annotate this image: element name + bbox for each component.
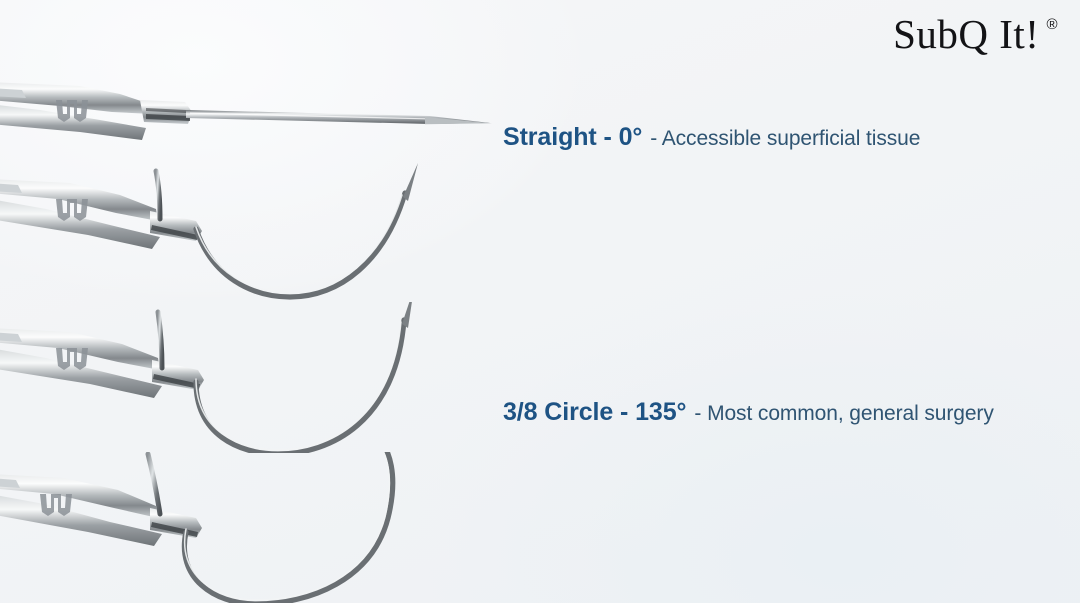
- forceps-engraved-logo-icon: [40, 494, 72, 516]
- caption-straight: Straight - 0° - Accessible superficial t…: [503, 123, 1078, 152]
- forceps-jaw-serrations: [146, 114, 190, 121]
- needle-curvature-infographic: SubQ It! ®: [0, 0, 1080, 603]
- half-circle-needle-instrument: [0, 302, 500, 453]
- forceps-engraved-logo-icon: [56, 100, 88, 122]
- caption-dash: -: [650, 127, 657, 150]
- forceps-upper-handle: [0, 474, 158, 518]
- straight-needle-highlight: [190, 113, 425, 120]
- forceps-jaw: [152, 360, 204, 390]
- half-circle-needle: [196, 320, 404, 453]
- caption-title: Straight - 0°: [503, 123, 642, 152]
- forceps-spring-slot: [0, 183, 22, 193]
- forceps-jaw-serrations: [153, 374, 200, 389]
- needle-row-three-eighths: 3/8 Circle - 135° - Most common, general…: [0, 151, 1080, 302]
- needle-swage-end: [158, 312, 162, 368]
- forceps-jaw-serrations: [151, 225, 198, 240]
- straight-needle-tip: [425, 117, 492, 124]
- straight-needle: [186, 110, 490, 124]
- caption-description-text: Accessible superficial tissue: [662, 127, 921, 150]
- forceps-engraved-logo-icon: [56, 348, 88, 370]
- forceps-jaw-serrations: [151, 522, 198, 537]
- needle-row-five-eighths: 5/8 Circle - 225° - Maximum curvature, m…: [0, 452, 1080, 603]
- caption-description: - Accessible superficial tissue: [650, 127, 920, 151]
- forceps-lower-handle: [0, 104, 146, 140]
- needle-swage-end: [156, 171, 160, 219]
- needle-highlight: [185, 452, 390, 600]
- straight-needle-instrument: [0, 0, 500, 151]
- forceps-lower-handle: [0, 199, 160, 249]
- forceps-lower-handle: [0, 494, 162, 546]
- five-eighths-circle-needle-instrument: [0, 452, 500, 603]
- forceps-spring-slot: [0, 332, 22, 342]
- forceps-spring-slot: [0, 478, 20, 488]
- forceps-upper-handle: [0, 328, 160, 370]
- needle-row-half-circle: 1/2 Circle - 180° - Deep confined spaces: [0, 302, 1080, 453]
- three-eighths-circle-needle-instrument: [0, 151, 500, 302]
- needle-swage-end: [148, 454, 160, 514]
- forceps-spring-slot: [0, 88, 26, 98]
- needle-highlight: [196, 195, 402, 293]
- needle-row-straight: Straight - 0° - Accessible superficial t…: [0, 0, 1080, 151]
- forceps-upper-handle: [0, 179, 158, 221]
- forceps-jaw: [140, 100, 192, 124]
- five-eighths-circle-needle: [184, 452, 392, 603]
- forceps-jaw: [150, 211, 202, 241]
- forceps-upper-handle: [0, 82, 152, 114]
- forceps-engraved-logo-icon: [56, 199, 88, 221]
- forceps-jaw-serrations-upper: [146, 108, 186, 113]
- needle-tip: [402, 302, 414, 328]
- forceps-jaw: [150, 508, 202, 538]
- needle-highlight: [196, 322, 401, 450]
- needle-tip: [403, 163, 418, 201]
- forceps-lower-handle: [0, 348, 162, 398]
- three-eighths-circle-needle: [196, 193, 405, 297]
